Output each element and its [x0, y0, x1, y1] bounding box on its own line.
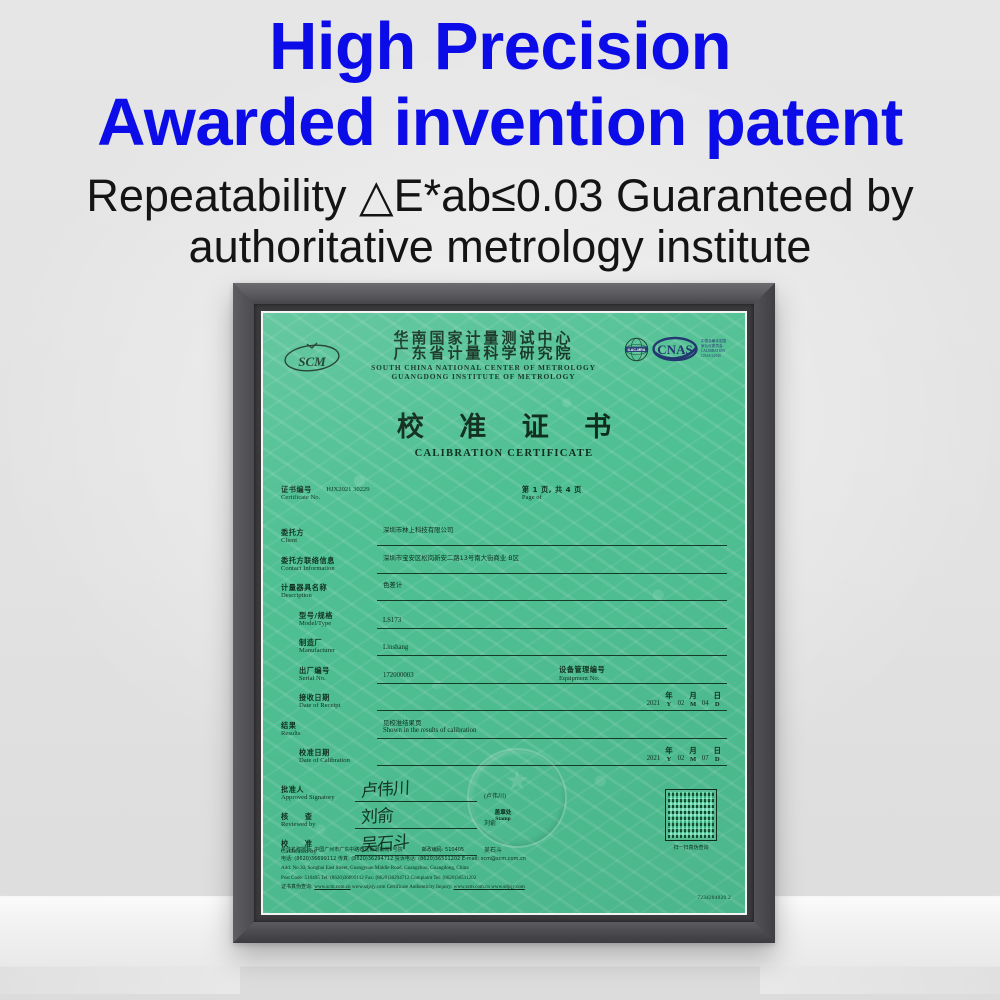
receipt-month-unit: 月M: [687, 690, 698, 710]
page-indicator-block: 第 1 页, 共 4 页 Page of: [522, 485, 727, 502]
footer-address-cn: 单位名称地址: 中国广州市广东中路西北街道松岗1号院: [281, 847, 402, 853]
accreditation-marks: ILAC-MRA CNAS 中国合格评定国家认可委员会 CALIBRATION …: [624, 336, 727, 362]
field-date-of-calibration-label: 校准日期 Date of Calibration: [281, 748, 377, 765]
scm-logo-icon: SCM: [281, 339, 343, 379]
certificate-body: SCM 华南国家计量测试中心 广东省计量科学研究院 SOUTH CHINA NA…: [263, 313, 745, 913]
field-description-label-en: Description: [281, 592, 377, 600]
field-equipment-no-label-en: Equipment No.: [559, 675, 605, 682]
cnas-logo-icon: CNAS: [652, 336, 698, 362]
field-client: 委托方 Client 深圳市林上科技有限公司: [281, 528, 727, 546]
headline-line-1: High Precision: [0, 14, 1000, 80]
org-name-cn-2: 广东省计量科学研究院: [349, 346, 618, 361]
certificate-number-value: HJX2021 30229: [326, 485, 369, 502]
signature-approved-label-en: Approved Signatory: [281, 794, 355, 802]
certificate-title-en: CALIBRATION CERTIFICATE: [281, 448, 727, 459]
headline-subtitle-2: authoritative metrology institute: [0, 222, 1000, 272]
stamp-caption-inner: 盖章处 Stamp: [495, 808, 512, 822]
calibration-year-unit-en: Y: [665, 756, 672, 763]
field-description-label-cn: 计量器具名称: [281, 583, 377, 592]
footer-link-1[interactable]: www.scm.com.cn: [314, 884, 350, 890]
calibration-certificate: SCM 华南国家计量测试中心 广东省计量科学研究院 SOUTH CHINA NA…: [263, 313, 745, 913]
certificate-title-cn: 校 准 证 书: [281, 405, 727, 444]
field-equipment-no-label: 设备管理编号 Equipment No.: [559, 665, 605, 682]
field-results-label-en: Results: [281, 730, 377, 738]
receipt-day-unit-en: D: [714, 701, 721, 708]
field-description: 计量器具名称 Description 色差计: [281, 583, 727, 601]
calibration-month-value: 02: [675, 755, 688, 765]
field-client-label-en: Client: [281, 537, 377, 545]
ilac-mra-icon: ILAC-MRA: [624, 337, 649, 362]
footer-line-3: Add: No.30, Songbai East Street, Guangyu…: [281, 864, 731, 873]
svg-text:SCM: SCM: [298, 354, 326, 369]
org-name-en-2: GUANGDONG INSTITUTE OF METROLOGY: [349, 373, 618, 380]
certificate-picture-frame: SCM 华南国家计量测试中心 广东省计量科学研究院 SOUTH CHINA NA…: [233, 283, 775, 943]
field-client-line: 深圳市林上科技有限公司: [377, 528, 727, 546]
certificate-footer: 单位名称地址: 中国广州市广东中路西北街道松岗1号院 邮政编码: 510405 …: [281, 846, 731, 903]
frame-bevel-bottom: [233, 922, 775, 943]
field-serial-no-value: 172000003: [383, 672, 414, 679]
footer-line-4: Post Code: 510405 Tel: (8620)36699112 Fa…: [281, 874, 731, 883]
field-date-of-receipt-label: 接收日期 Date of Receipt: [281, 693, 377, 710]
signature-approved-line: 卢伟川: [355, 782, 477, 802]
signature-reviewed-label-cn: 核 查: [281, 812, 355, 821]
page-indicator-en: Page of: [522, 494, 582, 502]
field-manufacturer-line: Linshang: [377, 638, 727, 656]
field-model-type: 型号/规格 Model/Type LS173: [281, 611, 727, 629]
headline-line-2: Awarded invention patent: [0, 90, 1000, 156]
signature-approved-label: 批准人 Approved Signatory: [281, 785, 355, 802]
field-contact-label: 委托方联络信息 Contact Information: [281, 556, 377, 573]
stamp-caption-cn: 盖章处: [495, 808, 512, 816]
field-description-label: 计量器具名称 Description: [281, 583, 377, 600]
signature-reviewed-ink: 刘俞: [361, 801, 394, 828]
qr-code-block[interactable]: 扫一扫真伪查询: [665, 790, 717, 851]
calibration-day-unit: 日D: [712, 745, 723, 765]
headline-subtitle-1: Repeatability △E*ab≤0.03 Guaranteed by: [0, 171, 1000, 221]
issuing-organization: 华南国家计量测试中心 广东省计量科学研究院 SOUTH CHINA NATION…: [349, 331, 618, 381]
cnas-accreditation-text: 中国合格评定国家认可委员会 CALIBRATION CNAS L0740: [701, 339, 727, 358]
field-date-of-receipt: 接收日期 Date of Receipt 2021 年Y 02 月M 04 日D: [281, 693, 727, 711]
signature-reviewed-line: 刘俞: [355, 809, 477, 829]
calibration-day-unit-en: D: [714, 756, 721, 763]
field-serial-no-label-en: Serial No.: [299, 675, 377, 683]
footer-inquiry-label: 证书真伪查询:: [281, 884, 314, 890]
frame-bevel-top: [233, 283, 775, 304]
calibration-day-value: 07: [699, 755, 712, 765]
calibration-date-parts: 2021 年Y 02 月M 07 日D: [644, 745, 723, 765]
certificate-number-block: 证书编号 Certificate No. HJX2021 30229: [281, 485, 522, 502]
seal-star-icon: [506, 770, 528, 792]
svg-text:CNAS: CNAS: [657, 342, 692, 357]
field-results-label: 结果 Results: [281, 721, 377, 738]
field-model-type-label-en: Model/Type: [299, 620, 377, 628]
footer-inquiry-mid: www.sdjsjy.com Certificate Authenticity …: [351, 884, 454, 890]
signature-approved-label-cn: 批准人: [281, 785, 355, 794]
certificate-number-label: 证书编号 Certificate No.: [281, 485, 320, 502]
field-model-type-label-cn: 型号/规格: [299, 611, 377, 620]
calibration-year-unit: 年Y: [663, 745, 674, 765]
field-contact-line: 深圳市宝安区松岗新安二路13号南大街商业 B区: [377, 556, 727, 574]
field-manufacturer-value: Linshang: [383, 644, 408, 651]
receipt-year-unit-en: Y: [665, 701, 672, 708]
calibration-month-unit-en: M: [689, 756, 696, 763]
field-serial-no-line: 172000003 设备管理编号 Equipment No.: [377, 666, 727, 684]
certificate-field-list: 委托方 Client 深圳市林上科技有限公司 委托方联络信息 Contact I…: [281, 528, 727, 766]
field-date-of-receipt-label-cn: 接收日期: [299, 693, 377, 702]
field-model-type-label: 型号/规格 Model/Type: [281, 611, 377, 628]
signature-reviewed-label-en: Reviewed by: [281, 821, 355, 829]
field-results: 结果 Results 见校准结果页 Shown in the results o…: [281, 721, 727, 739]
field-model-type-value: LS173: [383, 617, 401, 624]
page-indicator-cn: 第 1 页, 共 4 页: [522, 485, 582, 494]
field-contact-label-en: Contact Information: [281, 565, 377, 573]
field-results-line: 见校准结果页 Shown in the results of calibrati…: [377, 721, 727, 739]
certificate-header: SCM 华南国家计量测试中心 广东省计量科学研究院 SOUTH CHINA NA…: [281, 331, 727, 381]
footer-line-5: 证书真伪查询: www.scm.com.cn www.sdjsjy.com Ce…: [281, 883, 731, 892]
receipt-year-unit: 年Y: [663, 690, 674, 710]
field-contact-value: 深圳市宝安区松岗新安二路13号南大街商业 B区: [383, 553, 519, 562]
field-client-label-cn: 委托方: [281, 528, 377, 537]
certificate-number-label-en: Certificate No.: [281, 494, 320, 502]
field-date-of-receipt-line: 2021 年Y 02 月M 04 日D: [377, 693, 727, 711]
field-contact-label-cn: 委托方联络信息: [281, 556, 377, 565]
field-equipment-no-label-cn: 设备管理编号: [559, 665, 605, 675]
org-name-en-1: SOUTH CHINA NATIONAL CENTER OF METROLOGY: [349, 364, 618, 371]
frame-bevel-right: [754, 283, 775, 943]
field-results-value-cn: 见校准结果页: [383, 718, 421, 727]
field-client-label: 委托方 Client: [281, 528, 377, 545]
field-manufacturer: 制造厂 Manufacturer Linshang: [281, 638, 727, 656]
footer-document-code: 7234204020 2: [281, 894, 731, 903]
field-description-line: 色差计: [377, 583, 727, 601]
footer-line-1: 单位名称地址: 中国广州市广东中路西北街道松岗1号院 邮政编码: 510405: [281, 846, 731, 855]
footer-link-3[interactable]: www.sdjsjy.com: [490, 884, 525, 890]
field-contact: 委托方联络信息 Contact Information 深圳市宝安区松岗新安二路…: [281, 556, 727, 574]
svg-text:ILAC-MRA: ILAC-MRA: [628, 347, 646, 351]
receipt-date-parts: 2021 年Y 02 月M 04 日D: [644, 690, 723, 710]
field-date-of-calibration-label-en: Date of Calibration: [299, 757, 377, 765]
signature-approved-ink: 卢伟川: [361, 773, 410, 801]
field-manufacturer-label-en: Manufacturer: [299, 647, 377, 655]
field-results-value-en: Shown in the results of calibration: [383, 727, 476, 734]
field-serial-no-label-cn: 出厂编号: [299, 666, 377, 675]
signature-reviewed-label: 核 查 Reviewed by: [281, 812, 355, 829]
qr-code-icon[interactable]: [666, 790, 716, 840]
footer-line-2: 电话: (8620)36699112 传真: (8620)36294712 投诉…: [281, 855, 731, 864]
field-manufacturer-label: 制造厂 Manufacturer: [281, 638, 377, 655]
field-description-value: 色差计: [383, 580, 402, 589]
receipt-month-unit-en: M: [689, 701, 696, 708]
field-date-of-receipt-label-en: Date of Receipt: [299, 702, 377, 710]
certificate-meta-row: 证书编号 Certificate No. HJX2021 30229 第 1 页…: [281, 485, 727, 502]
field-results-label-cn: 结果: [281, 721, 377, 730]
frame-bevel-left: [233, 283, 254, 943]
calibration-month-unit: 月M: [687, 745, 698, 765]
page-indicator: 第 1 页, 共 4 页 Page of: [522, 485, 582, 502]
field-serial-no-label: 出厂编号 Serial No.: [281, 666, 377, 683]
embossed-seal: [467, 748, 567, 848]
field-model-type-line: LS173: [377, 611, 727, 629]
receipt-day-value: 04: [699, 700, 712, 710]
field-client-value: 深圳市林上科技有限公司: [383, 525, 453, 534]
calibration-year-value: 2021: [644, 755, 664, 765]
stamp-caption-en: Stamp: [495, 816, 512, 822]
receipt-day-unit: 日D: [712, 690, 723, 710]
receipt-year-value: 2021: [644, 700, 664, 710]
field-manufacturer-label-cn: 制造厂: [299, 638, 377, 647]
footer-postcode-cn: 邮政编码: 510405: [422, 847, 464, 853]
footer-link-2[interactable]: www.scm.com.cn: [454, 884, 490, 890]
promo-headline: High Precision Awarded invention patent …: [0, 0, 1000, 272]
field-date-of-calibration-label-cn: 校准日期: [299, 748, 377, 757]
certificate-number-label-cn: 证书编号: [281, 485, 320, 494]
field-serial-no: 出厂编号 Serial No. 172000003 设备管理编号 Equipme…: [281, 666, 727, 684]
receipt-month-value: 02: [675, 700, 688, 710]
